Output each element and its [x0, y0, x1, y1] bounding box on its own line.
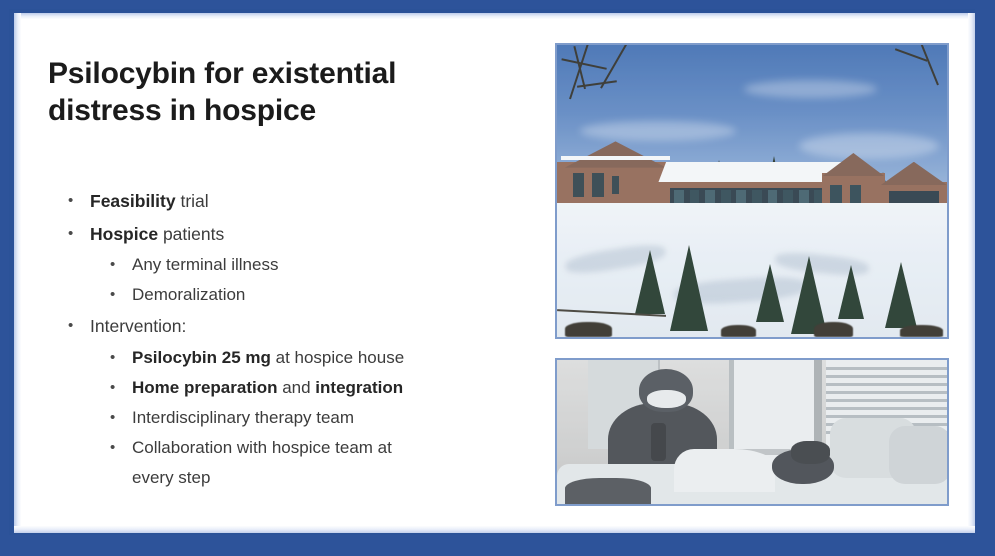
- foreground-evergreen: [885, 262, 917, 328]
- photo-bedside-visit: [555, 358, 949, 506]
- bullet-marker-icon: •: [68, 310, 73, 343]
- blanket: [674, 449, 775, 492]
- bullet-item: • Any terminal illness: [48, 250, 508, 280]
- pillow: [889, 426, 948, 484]
- roof-snow: [561, 156, 670, 160]
- bullet-item: • Demoralization: [48, 280, 508, 310]
- bullet-text: Any terminal illness: [132, 255, 278, 274]
- foreground-evergreen: [838, 265, 864, 319]
- bullet-text: trial: [176, 191, 209, 211]
- window: [573, 173, 585, 196]
- photo-hospice-house: [555, 43, 949, 339]
- bullet-item: • Feasibility trial: [48, 185, 508, 218]
- foreground-object: [565, 478, 651, 504]
- bullet-bold-text: Hospice: [90, 224, 158, 244]
- bullet-text: Interdisciplinary therapy team: [132, 408, 354, 427]
- bullet-marker-icon: •: [68, 185, 73, 218]
- bullet-text: and: [277, 378, 315, 397]
- border-glow-bottom: [14, 526, 975, 533]
- slide-border-top: [0, 0, 995, 9]
- foreground-evergreen: [756, 264, 784, 322]
- foreground-evergreen: [670, 245, 708, 331]
- bullet-marker-icon: •: [68, 218, 73, 251]
- slide-canvas: Psilocybin for existential distress in h…: [14, 13, 975, 533]
- bullet-text-wrap: every step: [132, 463, 508, 493]
- lanyard: [651, 423, 667, 460]
- bullet-marker-icon: •: [110, 280, 115, 310]
- eyeshade: [791, 441, 830, 464]
- bullet-text: Demoralization: [132, 285, 245, 304]
- bullet-bold-text: Feasibility: [90, 191, 176, 211]
- slide-title: Psilocybin for existential distress in h…: [48, 55, 488, 129]
- bullet-marker-icon: •: [110, 250, 115, 280]
- slide-border-left: [0, 0, 9, 556]
- bullet-bold-text: Home preparation: [132, 378, 277, 397]
- bullet-marker-icon: •: [110, 433, 115, 463]
- slide-border-right: [975, 0, 995, 556]
- window: [592, 173, 604, 196]
- bullet-bold-text: integration: [315, 378, 403, 397]
- bullet-text: at hospice house: [271, 348, 404, 367]
- bullet-item: • Psilocybin 25 mg at hospice house: [48, 343, 508, 373]
- shrub: [814, 322, 853, 337]
- bullet-list: • Feasibility trial • Hospice patients •…: [48, 185, 508, 493]
- bullet-marker-icon: •: [110, 403, 115, 433]
- window: [612, 176, 620, 194]
- bullet-item: • Collaboration with hospice team at eve…: [48, 433, 508, 493]
- shrub: [900, 325, 943, 337]
- bullet-marker-icon: •: [110, 343, 115, 373]
- bullet-item: • Intervention:: [48, 310, 508, 343]
- slide-frame: Psilocybin for existential distress in h…: [0, 0, 995, 556]
- face-mask: [647, 390, 686, 407]
- shrub: [565, 322, 612, 337]
- bullet-text: Collaboration with hospice team at: [132, 438, 392, 457]
- bullet-text: patients: [158, 224, 224, 244]
- bullet-item: • Interdisciplinary therapy team: [48, 403, 508, 433]
- border-glow-top: [14, 13, 975, 19]
- foreground-evergreen: [635, 250, 665, 314]
- border-glow-left: [14, 13, 21, 533]
- border-glow-right: [968, 13, 975, 533]
- bullet-item: • Home preparation and integration: [48, 373, 508, 403]
- bullet-item: • Hospice patients: [48, 218, 508, 251]
- cloud: [744, 80, 877, 98]
- bullet-bold-text: Psilocybin 25 mg: [132, 348, 271, 367]
- shrub: [721, 325, 756, 337]
- slide-border-bottom: [0, 535, 995, 556]
- bullet-marker-icon: •: [110, 373, 115, 403]
- bullet-text: Intervention:: [90, 316, 186, 336]
